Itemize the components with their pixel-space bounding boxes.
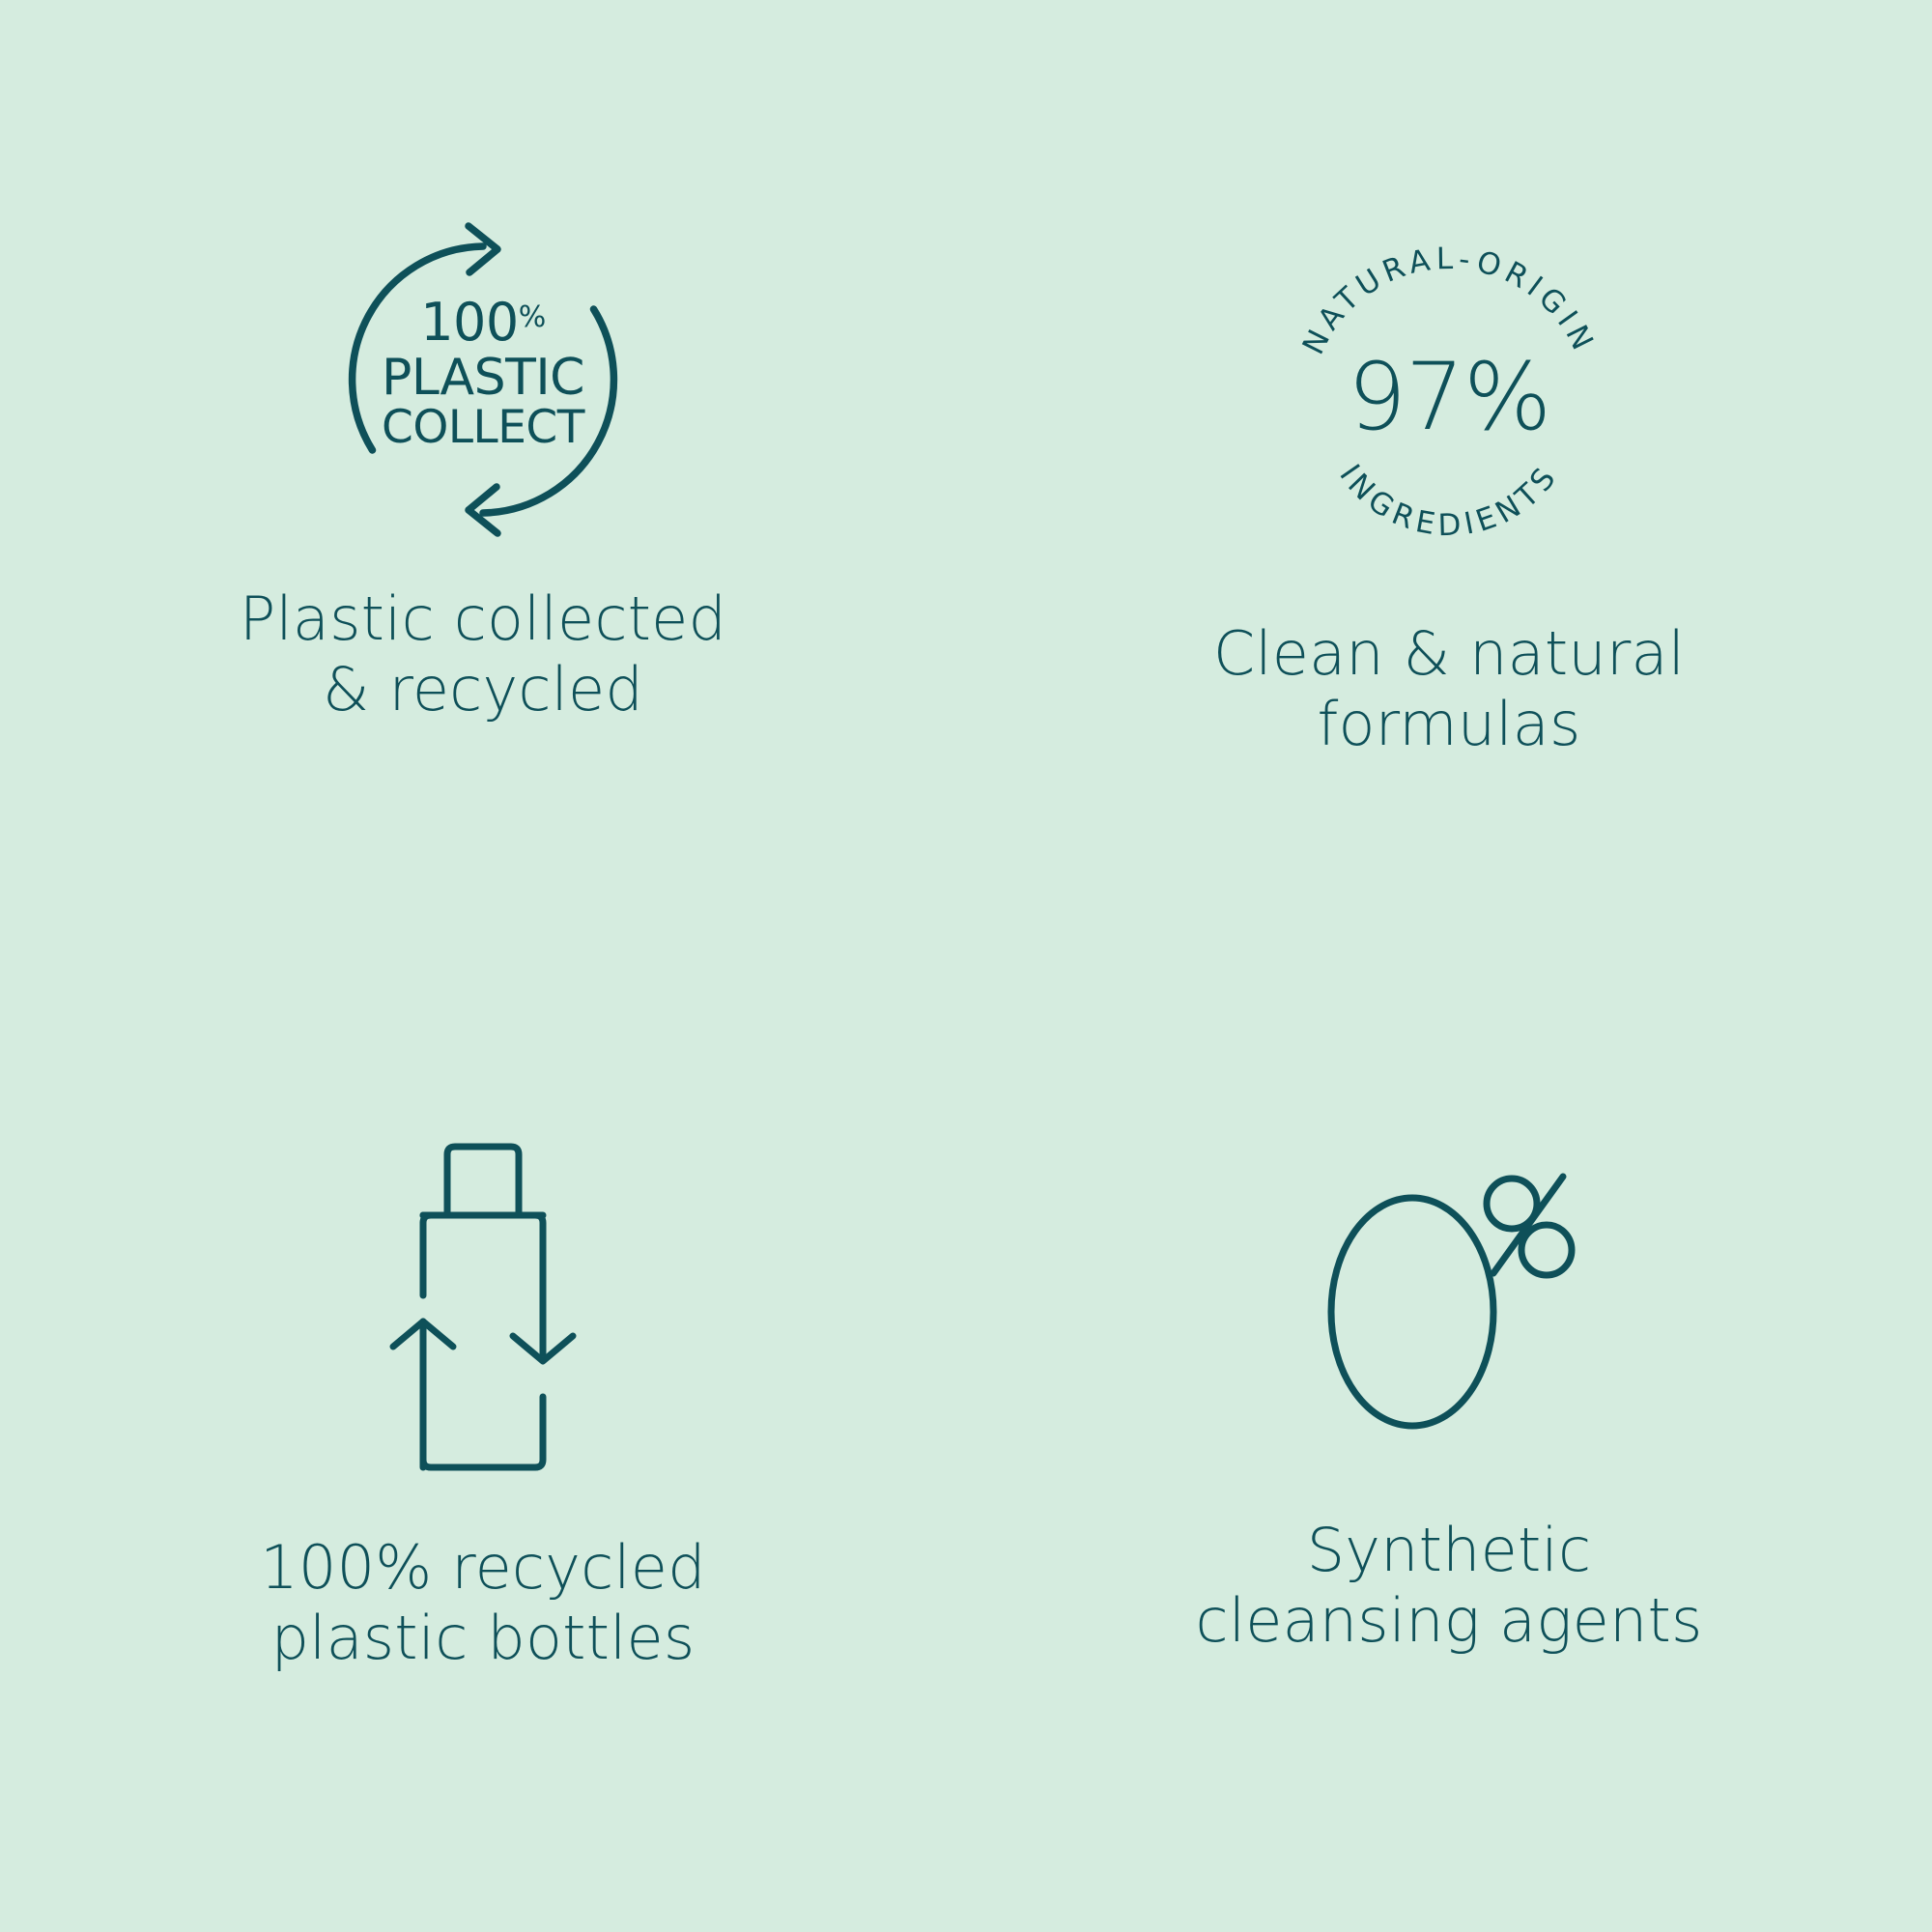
recycling-circle-icon: 100% PLASTIC COLLECT bbox=[324, 220, 642, 539]
natural-origin-seal-icon: NATURAL-ORIGIN INGREDIENTS 97% bbox=[1275, 232, 1623, 580]
recycled-bottle-icon bbox=[372, 1138, 594, 1476]
claim-card-clean-natural: NATURAL-ORIGIN INGREDIENTS 97% Clean & n… bbox=[966, 0, 1932, 966]
claim-caption: Plastic collected & recycled bbox=[240, 583, 726, 724]
claim-card-recycled-bottles: 100% recycled plastic bottles bbox=[0, 966, 966, 1932]
badge-line-plastic: PLASTIC bbox=[382, 349, 584, 407]
claim-caption: 100% recycled plastic bottles bbox=[260, 1532, 705, 1673]
claim-card-plastic-collected: 100% PLASTIC COLLECT Plastic collected &… bbox=[0, 0, 966, 966]
claim-caption: Clean & natural formulas bbox=[1213, 618, 1685, 759]
badge-percent-text: 100% bbox=[420, 292, 546, 353]
claim-card-synthetic-cleansing: Synthetic cleansing agents bbox=[966, 966, 1932, 1932]
zero-percent-icon bbox=[1304, 1155, 1594, 1455]
badge-line-collect: COLLECT bbox=[382, 401, 585, 454]
seal-value-text: 97% bbox=[1348, 343, 1550, 451]
seal-arc-bottom-text: INGREDIENTS bbox=[1332, 458, 1566, 543]
claims-grid: 100% PLASTIC COLLECT Plastic collected &… bbox=[0, 0, 1932, 1932]
claim-caption: Synthetic cleansing agents bbox=[1196, 1515, 1703, 1656]
